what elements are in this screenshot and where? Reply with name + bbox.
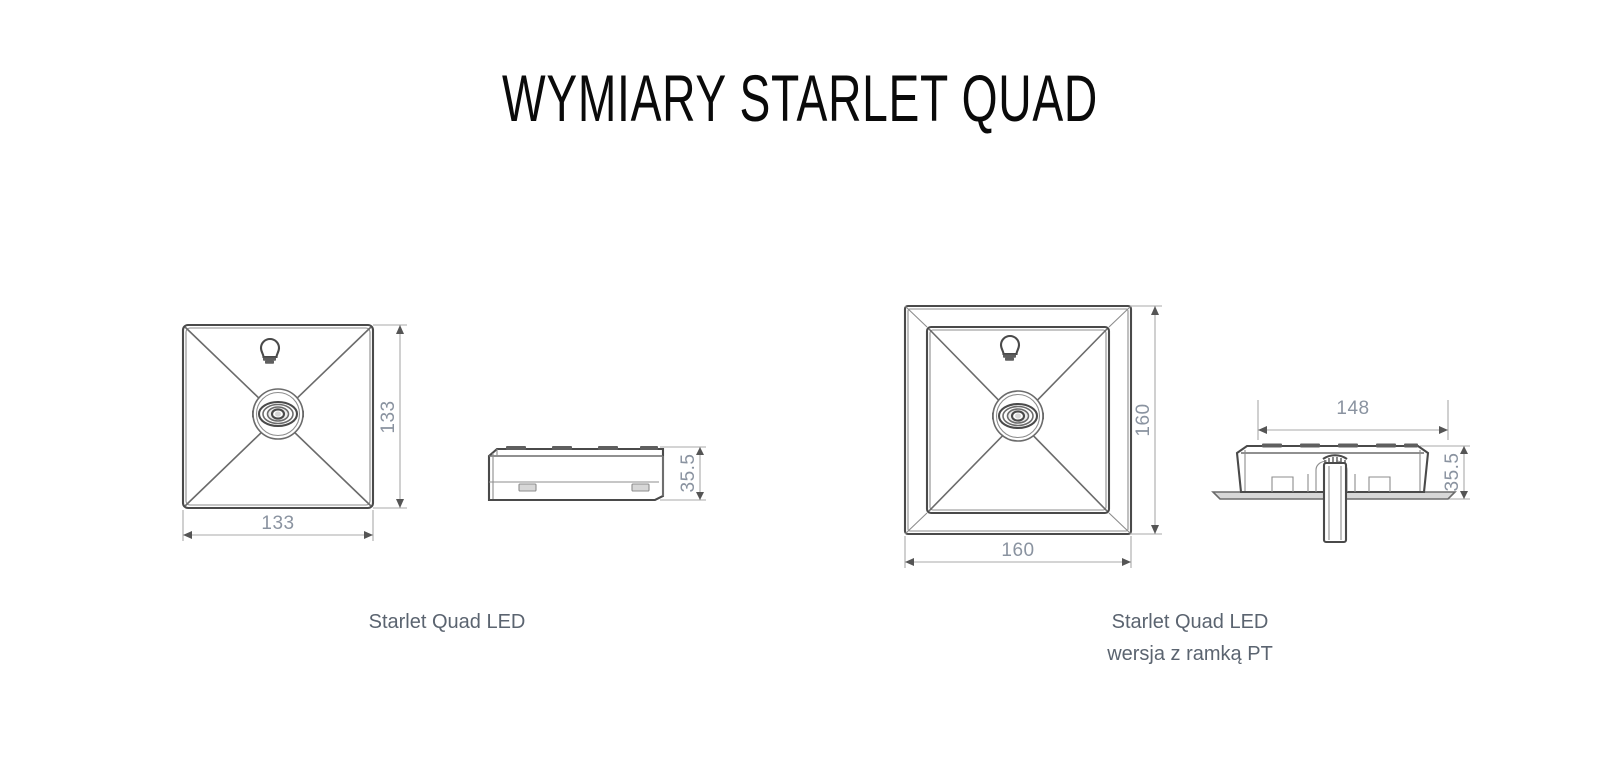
caption-left-product: Starlet Quad LED xyxy=(247,606,647,638)
drawing-page: WYMIARY STARLET QUAD xyxy=(0,0,1600,763)
mounting-stem xyxy=(1324,463,1346,542)
caption-left-line1: Starlet Quad LED xyxy=(247,606,647,638)
dimension-label-right-side-width: 148 xyxy=(1336,398,1369,419)
caption-right-line2: wersja z ramką PT xyxy=(990,638,1390,670)
caption-right-line1: Starlet Quad LED xyxy=(990,606,1390,638)
caption-right-product: Starlet Quad LED wersja z ramką PT xyxy=(990,606,1390,670)
dimension-label-right-depth: 35.5 xyxy=(1442,453,1463,492)
